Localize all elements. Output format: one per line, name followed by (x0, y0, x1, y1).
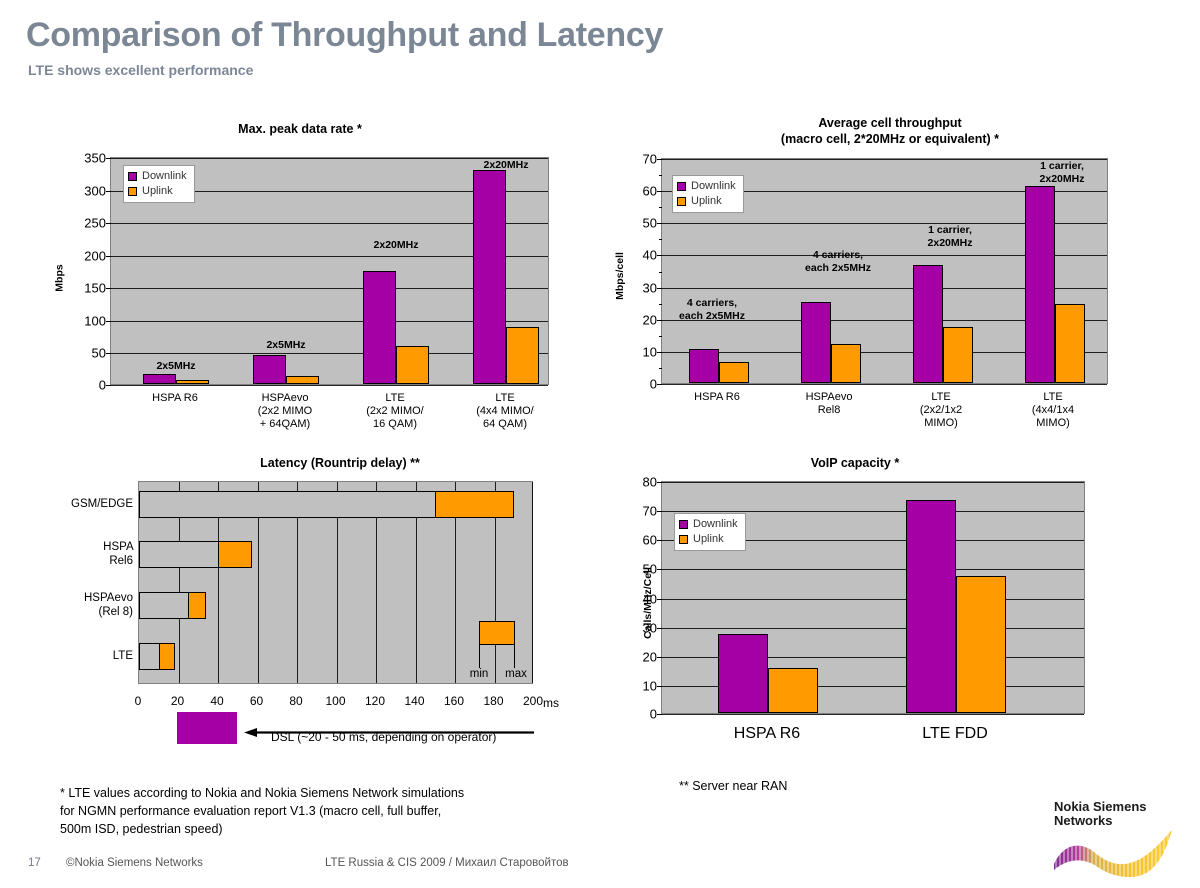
chart2-bar-downlink (1025, 186, 1055, 383)
page-subtitle: LTE shows excellent performance (28, 62, 253, 78)
chart3-xtick: 120 (365, 694, 385, 708)
chart1-bar-uplink (396, 346, 429, 384)
chart3-xtick: 60 (250, 694, 263, 708)
legend-label-uplink: Uplink (693, 532, 724, 547)
gridline (662, 599, 1084, 600)
chart3-xtick: 20 (171, 694, 184, 708)
chart4-ytick: 0 (650, 707, 657, 722)
chart1-ytick: 250 (84, 216, 106, 231)
chart1-bar-downlink (253, 355, 286, 384)
chart3-xtick: 180 (483, 694, 503, 708)
downlink-swatch-icon (679, 520, 688, 529)
chart4-plot-area: 80 70 60 50 40 30 20 10 0 Downlink Uplin… (661, 481, 1085, 714)
chart2-title: Average cell throughput (macro cell, 2*2… (690, 115, 1090, 147)
chart3-xtick: 200 (523, 694, 543, 708)
gridline (532, 482, 533, 683)
chart3-bar-gsm-edge (139, 491, 514, 518)
chart2-xtick: HSPA R6 (694, 391, 740, 404)
gridline (662, 714, 1084, 715)
chart3-min-label: min (470, 668, 489, 680)
chart1-annotation: 2x5MHz (266, 339, 305, 352)
chart1-y-axis-label: Mbps (54, 264, 66, 291)
chart2-bar-downlink (689, 349, 719, 383)
chart1-bar-downlink (473, 170, 506, 384)
chart1-ytick: 150 (84, 281, 106, 296)
chart1-xtick: LTE (4x4 MIMO/ 64 QAM) (476, 392, 533, 431)
legend-label-uplink: Uplink (691, 194, 722, 209)
chart2-xtick: LTE (4x4/1x4 MIMO) (1032, 391, 1074, 430)
chart3-dsl-annotation-text: DSL (~20 - 50 ms, depending on operator) (271, 730, 496, 744)
chart1-ytick: 100 (84, 313, 106, 328)
chart3-category: HSPA Rel6 (103, 540, 133, 568)
legend-label-uplink: Uplink (142, 184, 173, 199)
chart2-plot-area: 70 60 50 40 30 20 10 0 4 carriers, each … (661, 158, 1108, 384)
chart1-ytick: 200 (84, 248, 106, 263)
chart2-ytick: 50 (643, 216, 657, 231)
chart4-ytick: 10 (643, 678, 657, 693)
legend-row-uplink: Uplink (677, 194, 736, 209)
chart1-ytick: 50 (92, 346, 106, 361)
chart4-ytick: 80 (643, 475, 657, 490)
uplink-swatch-icon (679, 535, 688, 544)
chart3-minmax-box (479, 621, 515, 645)
chart3-plot-area: min max GSM/EDGE HSPA Rel6 HSPAevo (Rel … (138, 481, 533, 684)
chart1-xtick: HSPA R6 (152, 392, 198, 405)
chart2-bar-downlink (913, 265, 943, 383)
chart3-bar-lte (139, 643, 175, 670)
chart4-legend: Downlink Uplink (674, 513, 746, 551)
chart1-plot-area: 350 300 250 200 150 100 50 0 2x5MHz 2x5M… (110, 157, 549, 385)
gridline (662, 569, 1084, 570)
chart3-category: GSM/EDGE (71, 497, 133, 511)
legend-label-downlink: Downlink (691, 179, 736, 194)
chart2-annotation: 1 carrier, 2x20MHz (928, 224, 973, 250)
chart2-bar-uplink (943, 327, 973, 383)
legend-row-downlink: Downlink (677, 179, 736, 194)
chart3-xtick: 80 (289, 694, 302, 708)
chart4-xtick: LTE FDD (922, 725, 987, 743)
chart4-xtick: HSPA R6 (734, 725, 800, 743)
chart2-bar-downlink (801, 302, 831, 383)
chart3-category: LTE (113, 649, 133, 663)
footnote-asterisk: * LTE values according to Nokia and Noki… (60, 784, 620, 838)
chart1-annotation: 2x20MHz (374, 239, 419, 252)
chart1-bar-downlink (363, 271, 396, 384)
chart2-annotation: 1 carrier, 2x20MHz (1040, 160, 1085, 186)
chart2-ytick: 30 (643, 280, 657, 295)
chart3-xtick: 0 (135, 694, 142, 708)
chart4-bar-uplink (768, 668, 818, 713)
chart1-annotation: 2x5MHz (156, 360, 195, 373)
chart1-ytick: 0 (99, 378, 106, 393)
chart3-max-label: max (505, 668, 527, 680)
chart4-ytick: 50 (643, 562, 657, 577)
page-title: Comparison of Throughput and Latency (26, 16, 663, 55)
copyright-text: ©Nokia Siemens Networks (66, 857, 203, 869)
chart4-title: VoIP capacity * (690, 455, 1020, 471)
chart2-ytick: 40 (643, 248, 657, 263)
chart1-bar-uplink (286, 376, 319, 384)
nokia-siemens-networks-logo: Nokia Siemens Networks (1052, 798, 1192, 878)
chart1-annotation: 2x20MHz (484, 159, 529, 172)
chart3-bar-hspaevo (139, 592, 206, 619)
chart2-bar-uplink (831, 344, 861, 383)
chart2-annotation: 4 carriers, each 2x5MHz (805, 249, 871, 275)
chart3-dsl-range-box (177, 712, 237, 744)
chart4-ytick: 40 (643, 591, 657, 606)
chart3-xtick: 160 (444, 694, 464, 708)
chart3-xtick: 140 (404, 694, 424, 708)
chart1-bar-uplink (176, 380, 209, 384)
legend-label-downlink: Downlink (693, 517, 738, 532)
chart3-x-axis-label: ms (543, 696, 559, 710)
chart1-legend: Downlink Uplink (123, 165, 195, 203)
page-number: 17 (28, 857, 41, 869)
gridline (111, 385, 548, 386)
chart2-ytick: 70 (643, 152, 657, 167)
chart1-ytick: 300 (84, 183, 106, 198)
chart4-bar-downlink (906, 500, 956, 713)
chart2-legend: Downlink Uplink (672, 175, 744, 213)
chart4-bar-downlink (718, 634, 768, 713)
chart4-ytick: 60 (643, 533, 657, 548)
chart1-title: Max. peak data rate * (110, 121, 490, 137)
chart2-y-axis-label: Mbps/cell (614, 252, 626, 300)
legend-label-downlink: Downlink (142, 169, 187, 184)
legend-row-uplink: Uplink (128, 184, 187, 199)
footnote-double-asterisk: ** Server near RAN (679, 777, 787, 795)
downlink-swatch-icon (128, 172, 137, 181)
chart2-ytick: 10 (643, 344, 657, 359)
chart3-bar-hspa-rel6 (139, 541, 252, 568)
gridline (662, 511, 1084, 512)
chart3-title: Latency (Rountrip delay) ** (140, 455, 540, 471)
chart4-ytick: 70 (643, 504, 657, 519)
chart2-xtick: LTE (2x2/1x2 MIMO) (920, 391, 962, 430)
chart2-xtick: HSPAevo Rel8 (806, 391, 853, 417)
legend-row-downlink: Downlink (128, 169, 187, 184)
gridline (662, 384, 1107, 385)
chart2-ytick: 20 (643, 312, 657, 327)
chart2-annotation: 4 carriers, each 2x5MHz (679, 297, 745, 323)
chart2-bar-uplink (719, 362, 749, 383)
chart1-xtick: HSPAevo (2x2 MIMO + 64QAM) (258, 392, 312, 431)
chart4-ytick: 20 (643, 649, 657, 664)
uplink-swatch-icon (128, 187, 137, 196)
downlink-swatch-icon (677, 182, 686, 191)
legend-row-downlink: Downlink (679, 517, 738, 532)
chart1-bar-uplink (506, 327, 539, 384)
gridline (662, 482, 1084, 483)
chart1-xtick: LTE (2x2 MIMO/ 16 QAM) (366, 392, 423, 431)
chart2-ytick: 0 (650, 377, 657, 392)
chart2-ytick: 60 (643, 184, 657, 199)
chart4-bar-uplink (956, 576, 1006, 713)
chart3-xtick: 40 (210, 694, 223, 708)
chart4-ytick: 30 (643, 620, 657, 635)
chart3-xtick: 100 (325, 694, 345, 708)
gridline (662, 628, 1084, 629)
event-text: LTE Russia & CIS 2009 / Михаил Старовойт… (325, 857, 569, 869)
chart2-bar-uplink (1055, 304, 1085, 383)
logo-text: Nokia Siemens Networks (1054, 800, 1147, 828)
gridline (111, 158, 548, 159)
chart1-bar-downlink (143, 374, 176, 384)
legend-row-uplink: Uplink (679, 532, 738, 547)
chart3-category: HSPAevo (Rel 8) (84, 591, 133, 619)
uplink-swatch-icon (677, 197, 686, 206)
chart1-ytick: 350 (84, 151, 106, 166)
